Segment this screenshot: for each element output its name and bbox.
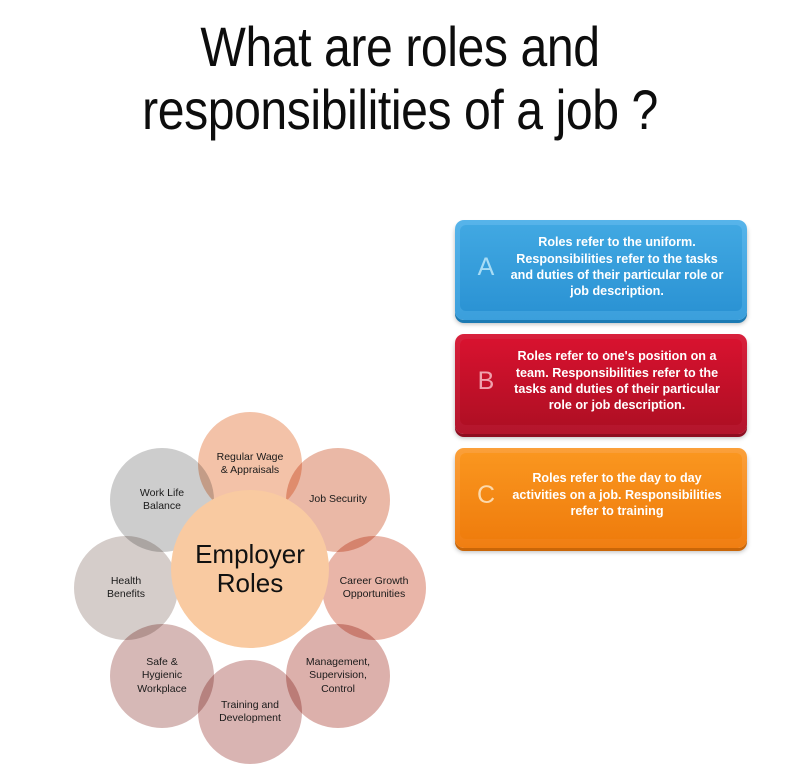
diagram-center-label-line-1: Employer <box>195 540 305 569</box>
diagram-node-label: Job Security <box>303 493 373 506</box>
answer-text-a: Roles refer to the uniform. Responsibili… <box>506 234 732 299</box>
answer-text-b: Roles refer to one's position on a team.… <box>506 348 732 413</box>
diagram-center-node-employer-roles: Employer Roles <box>171 490 329 648</box>
answer-option-c[interactable]: C Roles refer to the day to day activiti… <box>455 448 747 548</box>
answer-letter-a: A <box>466 255 506 280</box>
diagram-node-label: Training andDevelopment <box>213 699 287 725</box>
answer-option-a-body[interactable]: A Roles refer to the uniform. Responsibi… <box>460 225 742 311</box>
answer-option-b-body[interactable]: B Roles refer to one's position on a tea… <box>460 339 742 425</box>
diagram-node-training-and-development: Training andDevelopment <box>198 660 302 764</box>
diagram-node-label: Work LifeBalance <box>134 487 190 513</box>
diagram-node-label: Safe &HygienicWorkplace <box>131 656 192 695</box>
answer-letter-c: C <box>466 483 506 508</box>
answer-option-b[interactable]: B Roles refer to one's position on a tea… <box>455 334 747 434</box>
answer-letter-b: B <box>466 369 506 394</box>
employer-roles-diagram: Work LifeBalance Regular Wage& Appraisal… <box>40 200 460 580</box>
answer-option-c-body[interactable]: C Roles refer to the day to day activiti… <box>460 453 742 539</box>
answer-text-c: Roles refer to the day to day activities… <box>506 470 732 519</box>
diagram-node-label: Career GrowthOpportunities <box>334 575 415 601</box>
diagram-center-label-line-2: Roles <box>195 569 305 598</box>
page-title-line-2: responsibilities of a job ? <box>56 79 744 142</box>
answer-option-a[interactable]: A Roles refer to the uniform. Responsibi… <box>455 220 747 320</box>
diagram-node-label: HealthBenefits <box>101 575 151 601</box>
diagram-node-label: Regular Wage& Appraisals <box>211 451 290 477</box>
answer-options-list: A Roles refer to the uniform. Responsibi… <box>455 220 747 562</box>
page-title: What are roles and responsibilities of a… <box>56 16 744 141</box>
page-title-line-1: What are roles and <box>56 16 744 79</box>
diagram-node-label: Management,Supervision,Control <box>300 656 376 695</box>
